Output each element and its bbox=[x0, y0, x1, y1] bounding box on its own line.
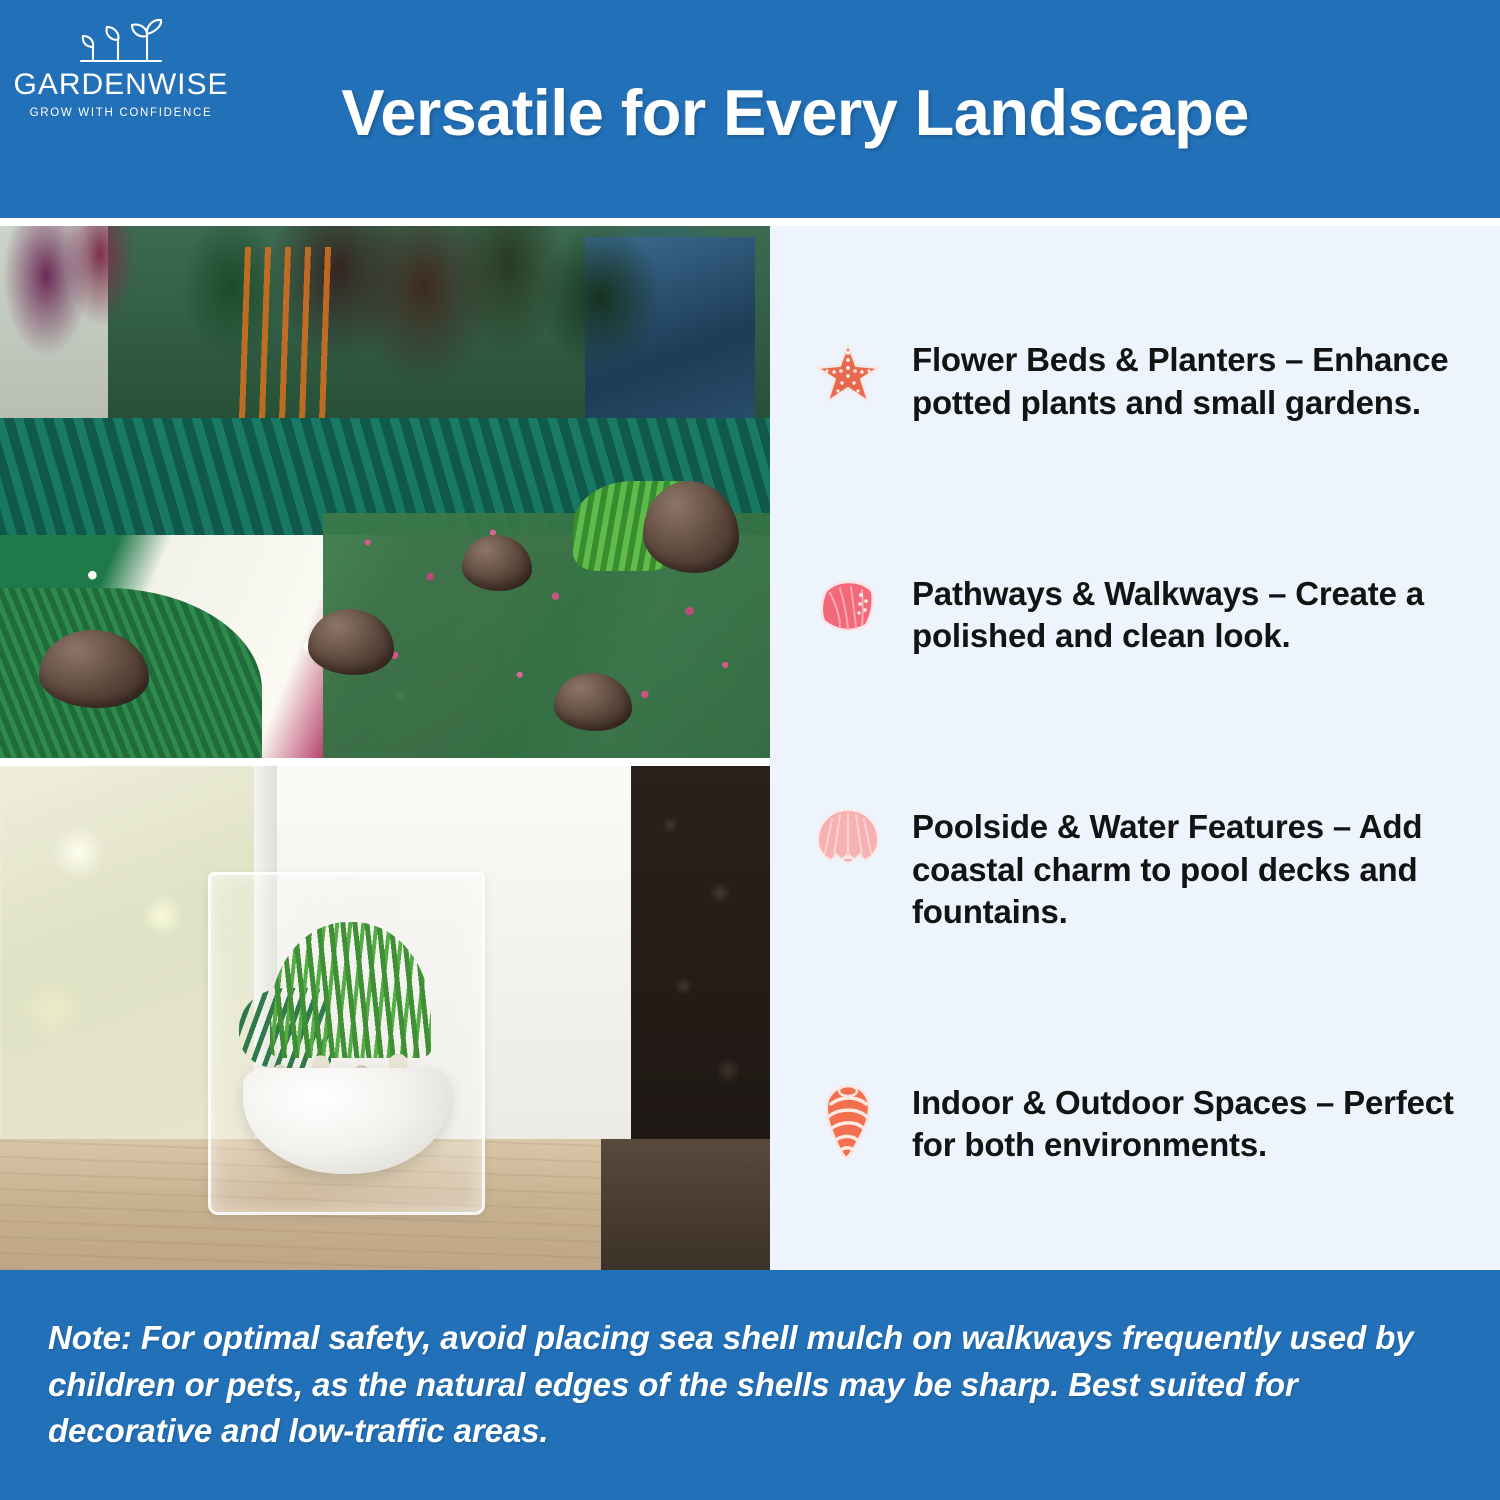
footer-note-banner: Note: For optimal safety, avoid placing … bbox=[0, 1270, 1500, 1500]
brand-name: GARDENWISE bbox=[13, 70, 228, 100]
scallop-shell-icon bbox=[812, 804, 884, 882]
brand-tagline: GROW WITH CONFIDENCE bbox=[30, 107, 213, 119]
infographic-page: GARDENWISE GROW WITH CONFIDENCE Versatil… bbox=[0, 0, 1500, 1500]
tropical-garden-photo bbox=[0, 226, 770, 758]
starfish-icon bbox=[812, 337, 884, 415]
list-item: Flower Beds & Planters – Enhance potted … bbox=[812, 337, 1464, 423]
list-item-label: Indoor & Outdoor Spaces – Perfect for bo… bbox=[912, 1080, 1464, 1166]
list-item-label: Poolside & Water Features – Add coastal … bbox=[912, 804, 1464, 933]
conch-shell-icon bbox=[812, 1080, 884, 1158]
header-banner: GARDENWISE GROW WITH CONFIDENCE Versatil… bbox=[0, 0, 1500, 218]
list-item: Pathways & Walkways – Create a polished … bbox=[812, 571, 1464, 657]
content-area: Flower Beds & Planters – Enhance potted … bbox=[0, 218, 1500, 1270]
benefits-list: Flower Beds & Planters – Enhance potted … bbox=[770, 226, 1500, 1270]
seedling-sprouts-icon bbox=[61, 16, 181, 68]
list-item-label: Pathways & Walkways – Create a polished … bbox=[912, 571, 1464, 657]
clam-shell-icon bbox=[812, 571, 884, 649]
brand-logo: GARDENWISE GROW WITH CONFIDENCE bbox=[16, 16, 226, 119]
glass-terrarium-photo bbox=[0, 766, 770, 1270]
list-item: Poolside & Water Features – Add coastal … bbox=[812, 804, 1464, 933]
list-item: Indoor & Outdoor Spaces – Perfect for bo… bbox=[812, 1080, 1464, 1166]
photo-column bbox=[0, 226, 770, 1270]
safety-note: Note: For optimal safety, avoid placing … bbox=[48, 1315, 1452, 1456]
list-item-label: Flower Beds & Planters – Enhance potted … bbox=[912, 337, 1464, 423]
